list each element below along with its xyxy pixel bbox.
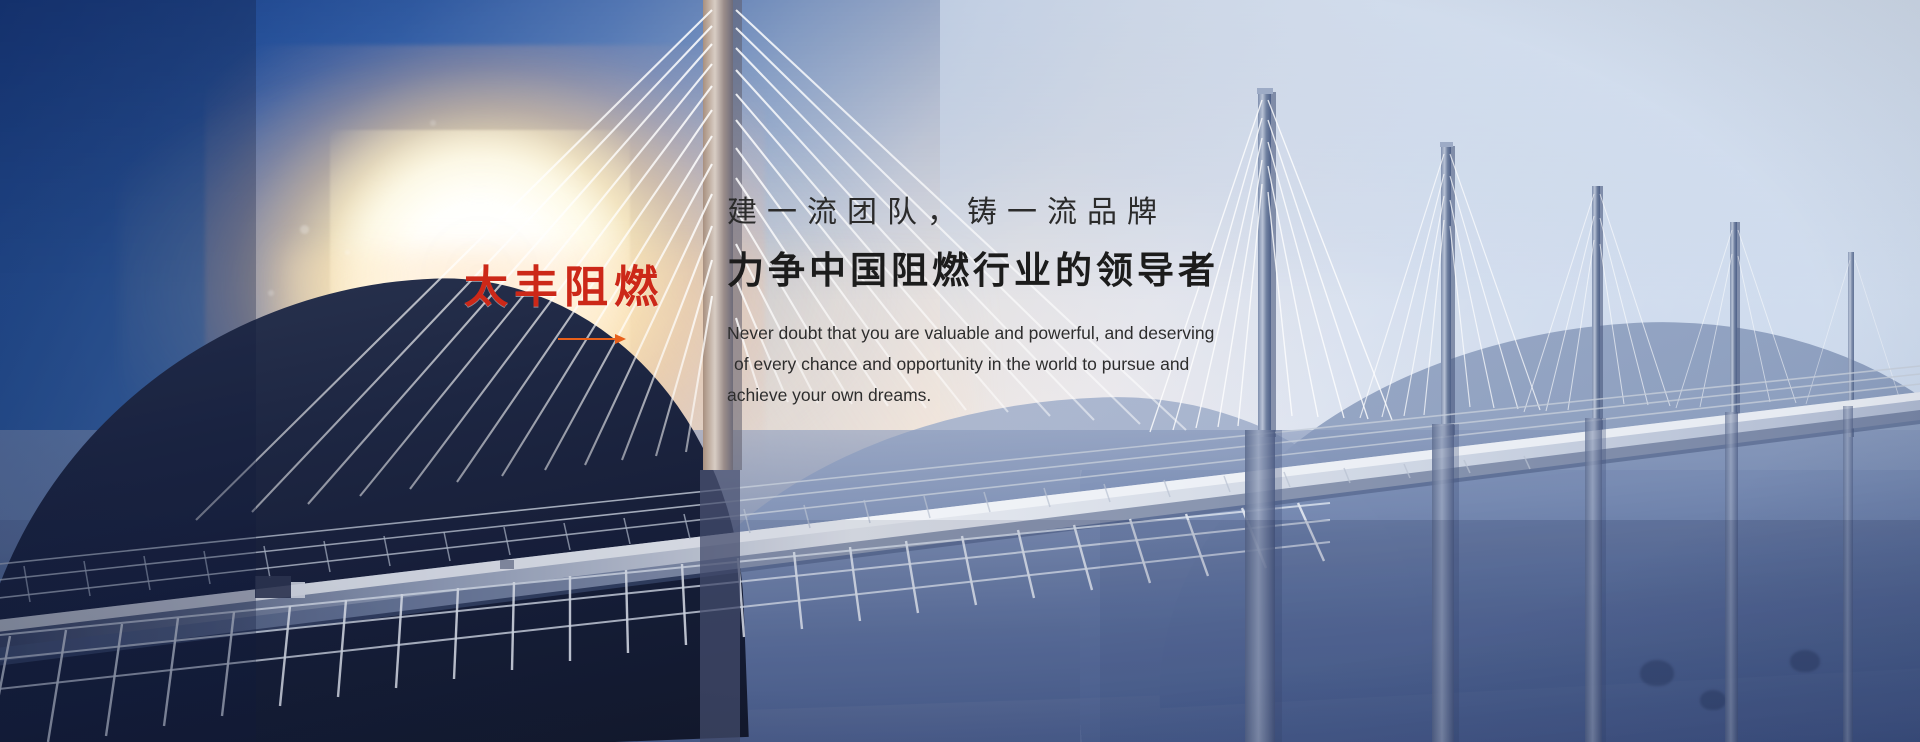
- description-line-2: of every chance and opportunity in the w…: [727, 349, 1427, 380]
- banner-content: 太丰阻燃 建一流团队，铸一流品牌 力争中国阻燃行业的领导者 Never doub…: [0, 0, 1920, 742]
- brand-wordmark: 太丰阻燃: [464, 266, 704, 310]
- hero-text-block: 建一流团队，铸一流品牌 力争中国阻燃行业的领导者 Never doubt tha…: [727, 194, 1427, 411]
- headline-title: 力争中国阻燃行业的领导者: [727, 248, 1427, 294]
- hero-description: Never doubt that you are valuable and po…: [727, 318, 1427, 411]
- description-line-3: achieve your own dreams.: [727, 380, 1427, 411]
- description-line-1: Never doubt that you are valuable and po…: [727, 318, 1427, 349]
- brand-logo[interactable]: 太丰阻燃: [464, 266, 704, 344]
- arrow-right-icon: [558, 334, 626, 344]
- hero-banner: 太丰阻燃 建一流团队，铸一流品牌 力争中国阻燃行业的领导者 Never doub…: [0, 0, 1920, 742]
- arrow-head: [615, 334, 626, 344]
- headline-subtitle: 建一流团队，铸一流品牌: [727, 194, 1427, 232]
- arrow-shaft: [558, 338, 616, 340]
